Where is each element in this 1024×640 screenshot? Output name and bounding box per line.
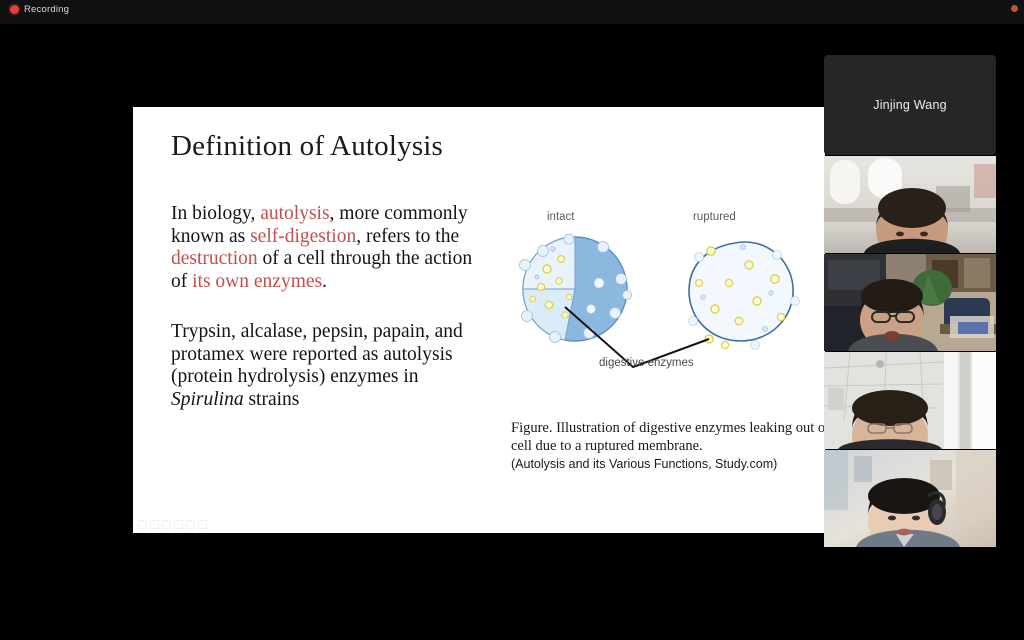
recording-dot-icon — [10, 5, 19, 14]
p1-seg5: . — [322, 271, 327, 292]
cell-diagram-illustration — [503, 221, 803, 371]
top-bar: Recording — [0, 0, 1024, 24]
ruptured-cell — [689, 242, 800, 349]
footer-mark — [198, 520, 207, 529]
slide-paragraph-1: In biology, autolysis, more commonly kno… — [171, 203, 493, 293]
p2-seg1: Trypsin, alcalase, pepsin, papain, and p… — [171, 321, 463, 387]
participant-name: Jinjing Wang — [873, 98, 947, 112]
participant-video — [824, 254, 996, 351]
p2-seg2: strains — [244, 389, 300, 410]
participant-tile[interactable] — [824, 450, 996, 547]
p2-italic-spirulina: Spirulina — [171, 389, 244, 410]
caption-line-2: cell due to a ruptured membrane. — [511, 438, 703, 454]
recording-label: Recording — [24, 5, 69, 15]
participant-video — [824, 450, 996, 547]
recording-indicator[interactable]: Recording — [10, 5, 69, 15]
participant-video — [824, 156, 996, 253]
meeting-app: Recording Definition of Autolysis In bio… — [0, 0, 1024, 640]
p1-seg1: In biology, — [171, 203, 260, 224]
participant-tile[interactable] — [824, 352, 996, 449]
slide-paragraph-2: Trypsin, alcalase, pepsin, papain, and p… — [171, 321, 493, 411]
slide-footer-marks — [138, 520, 207, 529]
figure-caption: Figure. Illustration of digestive enzyme… — [511, 419, 825, 473]
participant-tile-active-speaker[interactable] — [824, 254, 996, 351]
p1-highlight-self-digestion: self-digestion — [250, 226, 356, 247]
presentation-slide: Definition of Autolysis In biology, auto… — [133, 107, 825, 533]
footer-mark — [186, 520, 195, 529]
slide-title: Definition of Autolysis — [171, 130, 443, 163]
caption-source: (Autolysis and its Various Functions, St… — [511, 457, 777, 471]
footer-mark — [174, 520, 183, 529]
participant-tile[interactable]: Jinjing Wang — [824, 55, 996, 155]
footer-mark — [162, 520, 171, 529]
caption-line-1: Figure. Illustration of digestive enzyme… — [511, 420, 825, 436]
participant-video — [824, 352, 996, 449]
footer-mark — [150, 520, 159, 529]
p1-seg3: , refers to the — [356, 226, 459, 247]
p1-highlight-destruction: destruction — [171, 248, 258, 269]
participants-rail: Jinjing Wang — [824, 55, 996, 548]
intact-cell — [520, 234, 632, 343]
status-dot-icon — [1011, 5, 1018, 12]
shared-screen-stage: Definition of Autolysis In biology, auto… — [0, 24, 1024, 640]
p1-highlight-own-enzymes: its own enzymes — [192, 271, 322, 292]
footer-mark — [138, 520, 147, 529]
p1-highlight-autolysis: autolysis — [260, 203, 329, 224]
participant-tile[interactable] — [824, 156, 996, 253]
figure-label-digestive-enzymes: digestive enzymes — [599, 357, 694, 369]
slide-body: In biology, autolysis, more commonly kno… — [171, 203, 493, 411]
